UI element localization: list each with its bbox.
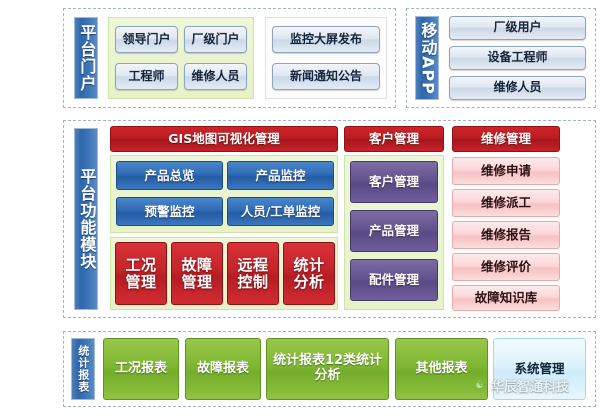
monitor-box-alarm-monitor[interactable]: 预警监控 xyxy=(116,197,223,226)
customer-box-parts-mgmt[interactable]: 配件管理 xyxy=(350,259,438,301)
report-box-fault[interactable]: 故障报表 xyxy=(185,338,261,400)
portal-button-big-screen[interactable]: 监控大屏发布 xyxy=(272,26,380,53)
customer-header-banner[interactable]: 客户管理 xyxy=(344,126,444,152)
module-box-remote-control[interactable]: 远程 控制 xyxy=(227,242,279,305)
maintenance-box-repair-evaluation[interactable]: 维修评价 xyxy=(452,253,560,281)
portal-vertical-label: 平台门户 xyxy=(74,17,98,99)
report-box-condition[interactable]: 工况报表 xyxy=(103,338,179,400)
maintenance-box-repair-dispatch[interactable]: 维修派工 xyxy=(452,189,560,217)
portal-button-factory[interactable]: 厂级门户 xyxy=(184,26,247,53)
module-box-fault-mgmt[interactable]: 故障 管理 xyxy=(171,242,223,305)
report-box-other[interactable]: 其他报表 xyxy=(395,338,488,400)
module-box-fault-mgmt-line1: 故障 xyxy=(181,257,212,274)
portal-button-news[interactable]: 新闻通知公告 xyxy=(272,63,380,90)
portal-button-engineer[interactable]: 工程师 xyxy=(115,63,178,90)
mobile-button-repairman[interactable]: 维修人员 xyxy=(449,76,586,100)
module-box-condition-mgmt[interactable]: 工况 管理 xyxy=(115,242,167,305)
platform-vertical-label-text: 平台功能模块 xyxy=(78,168,95,270)
platform-vertical-label: 平台功能模块 xyxy=(74,128,98,310)
architecture-diagram: 平台门户 领导门户 厂级门户 工程师 维修人员 监控大屏发布 新闻通知公告 移动… xyxy=(0,0,608,416)
mobile-button-device-engineer[interactable]: 设备工程师 xyxy=(449,46,586,70)
monitor-box-product-overview[interactable]: 产品总览 xyxy=(116,161,223,190)
customer-box-customer-mgmt[interactable]: 客户管理 xyxy=(350,161,438,203)
module-box-remote-control-line1: 远程 xyxy=(237,257,268,274)
module-box-remote-control-line2: 控制 xyxy=(237,274,268,291)
gis-header-banner[interactable]: GIS地图可视化管理 xyxy=(110,126,338,152)
mobile-app-vertical-label-text: 移动APP xyxy=(419,22,436,95)
maintenance-box-repair-report[interactable]: 维修报告 xyxy=(452,221,560,249)
monitor-box-staff-workorder[interactable]: 人员/工单监控 xyxy=(227,197,334,226)
module-box-fault-mgmt-line2: 管理 xyxy=(181,274,212,291)
module-box-statistics-analysis[interactable]: 统计 分析 xyxy=(283,242,335,305)
mobile-button-factory-user[interactable]: 厂级用户 xyxy=(449,16,586,40)
module-box-condition-mgmt-line1: 工况 xyxy=(125,257,156,274)
maintenance-box-repair-request[interactable]: 维修申请 xyxy=(452,157,560,185)
portal-button-repairman[interactable]: 维修人员 xyxy=(184,63,247,90)
maintenance-header-banner[interactable]: 维修管理 xyxy=(452,126,560,152)
customer-box-product-mgmt[interactable]: 产品管理 xyxy=(350,210,438,252)
report-box-system-mgmt[interactable]: 系统管理 xyxy=(493,338,586,400)
reports-vertical-label-text: 统计报表 xyxy=(77,345,89,393)
portal-button-leader[interactable]: 领导门户 xyxy=(115,26,178,53)
reports-vertical-label: 统计报表 xyxy=(71,338,95,400)
module-box-statistics-analysis-line1: 统计 xyxy=(293,257,324,274)
portal-vertical-label-text: 平台门户 xyxy=(78,24,95,92)
mobile-app-vertical-label: 移动APP xyxy=(415,16,439,100)
module-box-condition-mgmt-line2: 管理 xyxy=(125,274,156,291)
monitor-box-product-monitor[interactable]: 产品监控 xyxy=(227,161,334,190)
maintenance-box-fault-knowledge[interactable]: 故障知识库 xyxy=(452,285,560,311)
report-box-statistics-12[interactable]: 统计报表12类统计分析 xyxy=(266,338,389,400)
module-box-statistics-analysis-line2: 分析 xyxy=(293,274,324,291)
